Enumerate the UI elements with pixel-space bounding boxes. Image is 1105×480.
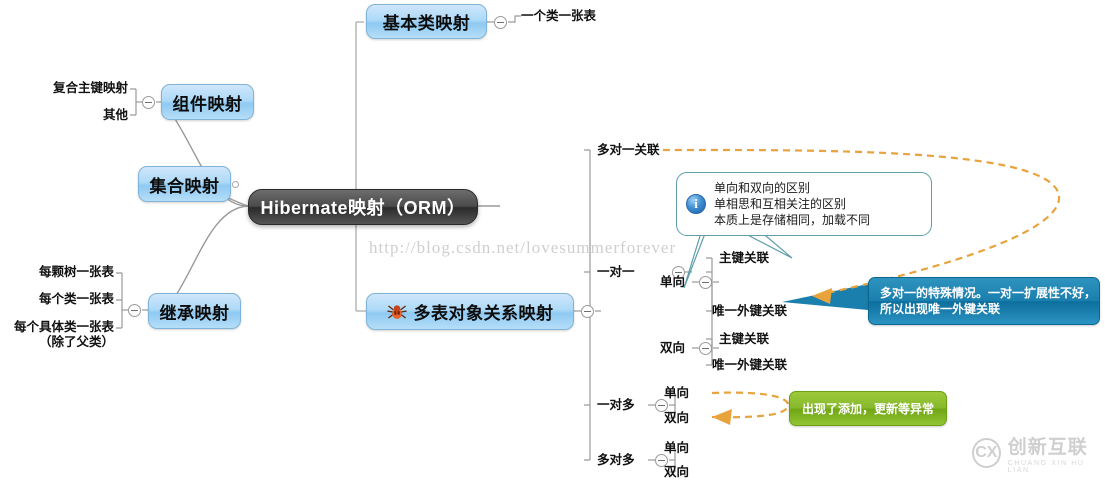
callout-info-box: i 单向和双向的区别 单相思和互相关注的区别 本质上是存储相同，加载不同 (676, 172, 932, 236)
leaf-one-to-many: 一对多 (597, 398, 635, 413)
node-multitable-mapping-label: 多表对象关系映射 (414, 299, 554, 324)
node-multitable-mapping[interactable]: 多表对象关系映射 (366, 293, 574, 330)
logo-mark-text: CX (975, 444, 997, 462)
toggle-1to1-unidirectional[interactable] (699, 276, 712, 289)
dashed-arrowhead-onetomany (712, 409, 732, 425)
callout-teal-box: 多对一的特殊情况。一对一扩展性不好， 所以出现唯一外键关联 (868, 277, 1100, 325)
spider-icon (387, 303, 407, 321)
callout-teal-line-1: 多对一的特殊情况。一对一扩展性不好， (880, 285, 1088, 301)
mindmap-canvas: Hibernate映射（ORM） 基本类映射 一个类一张表 组件映射 复合主键映… (0, 0, 1105, 480)
logo-text-en: CHUANG XIN HU LIAN (1008, 460, 1105, 474)
node-collection-mapping-label: 集合映射 (150, 172, 220, 197)
node-basic-mapping-label: 基本类映射 (383, 9, 471, 34)
leaf-1to1-bidirectional: 双向 (660, 341, 685, 356)
leaf-many-to-many: 多对多 (597, 453, 635, 468)
info-icon: i (686, 194, 706, 214)
dashed-arrowhead-manytoone (812, 288, 832, 304)
node-basic-mapping[interactable]: 基本类映射 (366, 4, 487, 39)
connector-basic-child (508, 16, 521, 22)
leaf-one-to-one: 一对一 (597, 265, 635, 280)
leaf-basic-child-0: 一个类一张表 (521, 9, 596, 24)
leaf-inheritance-child-2-line2: （除了父类） (39, 335, 114, 349)
toggle-basic-mapping[interactable] (494, 16, 507, 29)
leaf-mtom-bidirectional: 双向 (664, 465, 689, 480)
node-component-mapping-label: 组件映射 (173, 90, 243, 115)
toggle-component-mapping[interactable] (142, 96, 155, 109)
leaf-component-child-1: 其他 (0, 108, 128, 123)
callout-info-text: 单向和双向的区别 单相思和互相关注的区别 本质上是存储相同，加载不同 (714, 180, 870, 228)
toggle-1to1-bidirectional[interactable] (699, 342, 712, 355)
callout-green-badge: 出现了添加，更新等异常 (789, 391, 947, 426)
center-node-label: Hibernate映射（ORM） (260, 194, 465, 220)
leaf-mtom-unidirectional: 单向 (664, 441, 689, 456)
leaf-1tom-bidirectional: 双向 (664, 411, 689, 426)
leaf-component-child-0: 复合主键映射 (0, 81, 128, 96)
leaf-inheritance-child-0: 每颗树一张表 (0, 265, 114, 280)
leaf-1to1-bi-primary-key: 主键关联 (719, 332, 769, 347)
connector-inherit-bracket (116, 273, 122, 328)
node-component-mapping[interactable]: 组件映射 (161, 84, 254, 120)
dashed-arrow-onetomany (712, 393, 788, 418)
toggle-multitable-mapping[interactable] (581, 305, 594, 318)
callout-info-line-1: 单向和双向的区别 (714, 180, 870, 196)
watermark-url: http://blog.csdn.net/lovesummerforever (369, 238, 676, 258)
leaf-1to1-uni-unique-fk: 唯一外键关联 (712, 304, 787, 319)
node-collection-mapping[interactable]: 集合映射 (138, 166, 231, 202)
callout-info-line-3: 本质上是存储相同，加载不同 (714, 212, 870, 228)
leaf-inheritance-child-2-line1: 每个具体类一张表 (14, 320, 114, 334)
logo-text-cn: 创新互联 (1008, 432, 1105, 459)
dot-collection-mapping (232, 181, 239, 188)
callout-teal-line-2: 所以出现唯一外键关联 (880, 301, 1088, 317)
leaf-1tom-unidirectional: 单向 (664, 386, 689, 401)
callout-teal-tail (782, 284, 868, 310)
site-logo: CX 创新互联 CHUANG XIN HU LIAN (972, 432, 1105, 474)
leaf-many-to-one: 多对一关联 (597, 143, 660, 158)
leaf-inheritance-child-2: 每个具体类一张表 （除了父类） (0, 320, 114, 350)
node-inheritance-mapping-label: 继承映射 (160, 299, 230, 324)
leaf-1to1-bi-unique-fk: 唯一外键关联 (712, 358, 787, 373)
logo-mark-icon: CX (972, 438, 1001, 468)
toggle-inheritance-mapping[interactable] (128, 304, 141, 317)
connector-component-bracket (130, 89, 136, 115)
leaf-inheritance-child-1: 每个类一张表 (0, 292, 114, 307)
leaf-1to1-unidirectional: 单向 (660, 275, 685, 290)
node-inheritance-mapping[interactable]: 继承映射 (148, 293, 241, 329)
center-node[interactable]: Hibernate映射（ORM） (248, 189, 478, 225)
callout-green-label: 出现了添加，更新等异常 (802, 402, 934, 416)
callout-info-line-2: 单相思和互相关注的区别 (714, 196, 870, 212)
leaf-1to1-uni-primary-key: 主键关联 (719, 251, 769, 266)
